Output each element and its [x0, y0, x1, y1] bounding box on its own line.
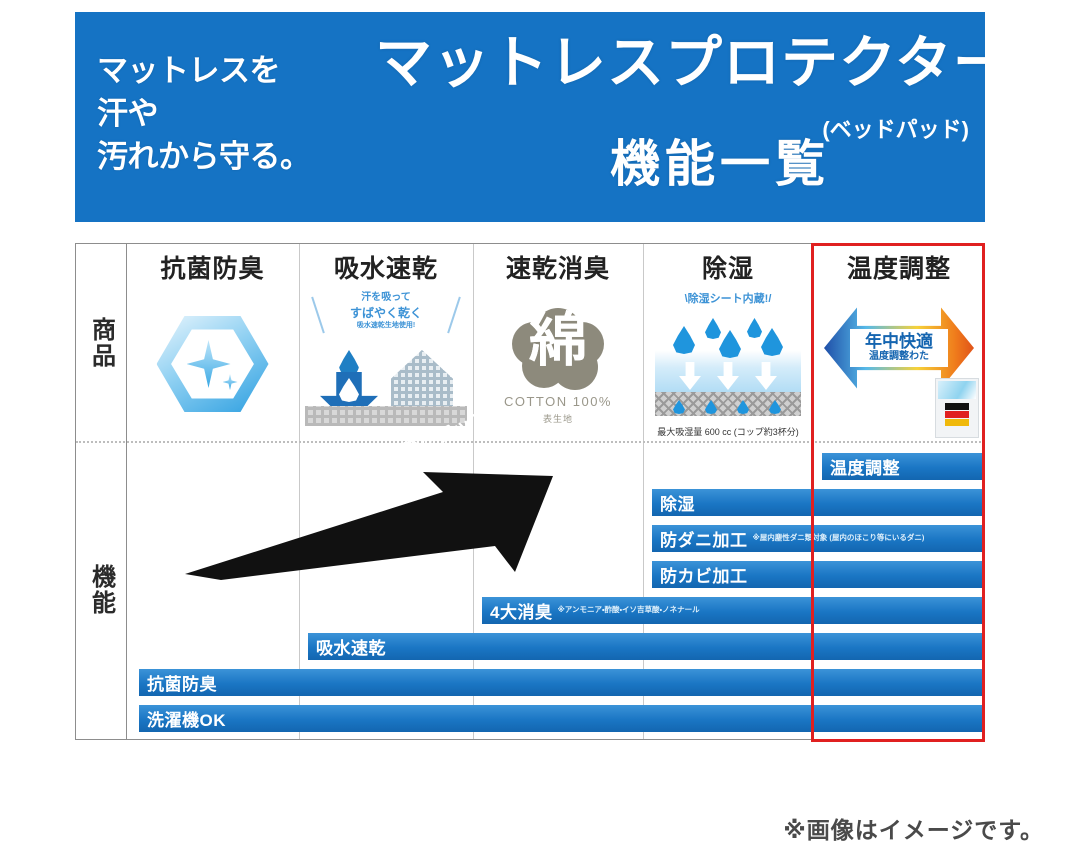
product-cell-temperature: 寒い時期暖かく 年中快適 温度調整わた 暑い時期涼しく — [813, 288, 985, 440]
feature-bar-quickdry: 吸水速乾 — [308, 633, 983, 660]
feature-bar-label: 温度調整 — [822, 454, 900, 479]
product-cell-deodorize: 綿 COTTON 100% 表生地 — [473, 288, 643, 440]
banner-left-line-1: マットレスを — [97, 50, 397, 93]
column-header-antibacterial: 抗菌防臭 — [126, 250, 299, 284]
package-top — [938, 381, 976, 399]
package-band-1 — [945, 403, 969, 410]
column-header-quickdry: 吸水速乾 — [299, 250, 473, 284]
feature-bar-label: 吸水速乾 — [308, 634, 386, 659]
banner-left-line-2: 汗や — [97, 93, 397, 136]
package-band-3 — [945, 419, 969, 426]
package-band-2 — [945, 411, 969, 418]
quickdry-note-line-2: すばやく乾く — [299, 305, 473, 321]
row-label-feature: 機能 — [76, 441, 126, 739]
poster-root: マットレスを 汗や 汚れから守る。 マットレスプロテクター (ベッドパッド) 機… — [0, 0, 1080, 859]
banner-left-line-3: 汚れから守る。 — [97, 136, 397, 179]
feature-bar-note: ※屋内塵性ダニ類対象 (屋内のほこり等にいるダニ) — [753, 534, 925, 543]
temperature-center: 年中快適 温度調整わた — [850, 329, 948, 367]
feature-bar-antimold: 防カビ加工 — [652, 561, 983, 588]
row-label-product: 商品 — [76, 244, 126, 441]
feature-bar-label: 抗菌防臭 — [139, 670, 217, 695]
product-package-icon — [935, 378, 979, 438]
quickdry-note-line-3: 吸水速乾生地使用! — [299, 321, 473, 330]
banner-second-line: 機能一覧 — [375, 138, 985, 191]
product-cell-antibacterial — [126, 288, 299, 440]
dehumidify-caption: 最大吸湿量 600 cc (コップ約3杯分) — [643, 425, 813, 438]
feature-bar-note: ※アンモニア・酢酸・イソ吉草酸・ノネナール — [557, 606, 699, 615]
feature-bar-label: 防ダニ加工 — [652, 526, 748, 551]
product-cell-dehumidify: \除湿シート内蔵!/ 最大吸湿量 600 cc (コップ約3杯分) — [643, 288, 813, 440]
feature-bar-label: 洗濯機OK — [139, 706, 226, 731]
upward-trend-arrow: 「寝心地」も「機能」も、段々アップ! — [185, 470, 555, 580]
column-header-temperature: 温度調整 — [813, 250, 985, 284]
cotton-kanji: 綿 — [529, 312, 587, 370]
cotton-caption: COTTON 100% — [473, 394, 643, 409]
banner-left-text: マットレスを 汗や 汚れから守る。 — [97, 50, 397, 178]
feature-bar-label: 防カビ加工 — [652, 562, 748, 587]
header-banner: マットレスを 汗や 汚れから守る。 マットレスプロテクター (ベッドパッド) 機… — [75, 12, 985, 222]
temperature-top-text: 寒い時期暖かく — [824, 308, 974, 319]
column-header-dehumidify: 除湿 — [643, 250, 813, 284]
feature-bar-antibacterial: 抗菌防臭 — [139, 669, 983, 696]
quickdry-note-line-1: 汗を吸って — [299, 291, 473, 305]
feature-bar-label: 4大消臭 — [482, 598, 552, 623]
temperature-center-line-2: 温度調整わた — [869, 350, 929, 364]
dehumidify-note: \除湿シート内蔵!/ — [643, 290, 813, 306]
quickdry-note: 汗を吸って すばやく乾く 吸水速乾生地使用! — [299, 291, 473, 330]
temperature-center-line-1: 年中快適 — [865, 333, 933, 350]
feature-bar-antimite: 防ダニ加工 ※屋内塵性ダニ類対象 (屋内のほこり等にいるダニ) — [652, 525, 983, 552]
feature-bar-temperature: 温度調整 — [822, 453, 983, 480]
column-header-deodorize: 速乾消臭 — [473, 250, 643, 284]
feature-bar-four-deodorize: 4大消臭 ※アンモニア・酢酸・イソ吉草酸・ノネナール — [482, 597, 983, 624]
hexagon-sparkle-icon — [157, 314, 269, 414]
feature-bar-label: 除湿 — [652, 490, 695, 515]
section-divider — [76, 441, 984, 443]
banner-title: マットレスプロテクター — [375, 34, 985, 94]
footer-note: ※画像はイメージです。 — [783, 811, 1044, 845]
feature-bar-dehumidify: 除湿 — [652, 489, 983, 516]
feature-bar-washable: 洗濯機OK — [139, 705, 983, 732]
